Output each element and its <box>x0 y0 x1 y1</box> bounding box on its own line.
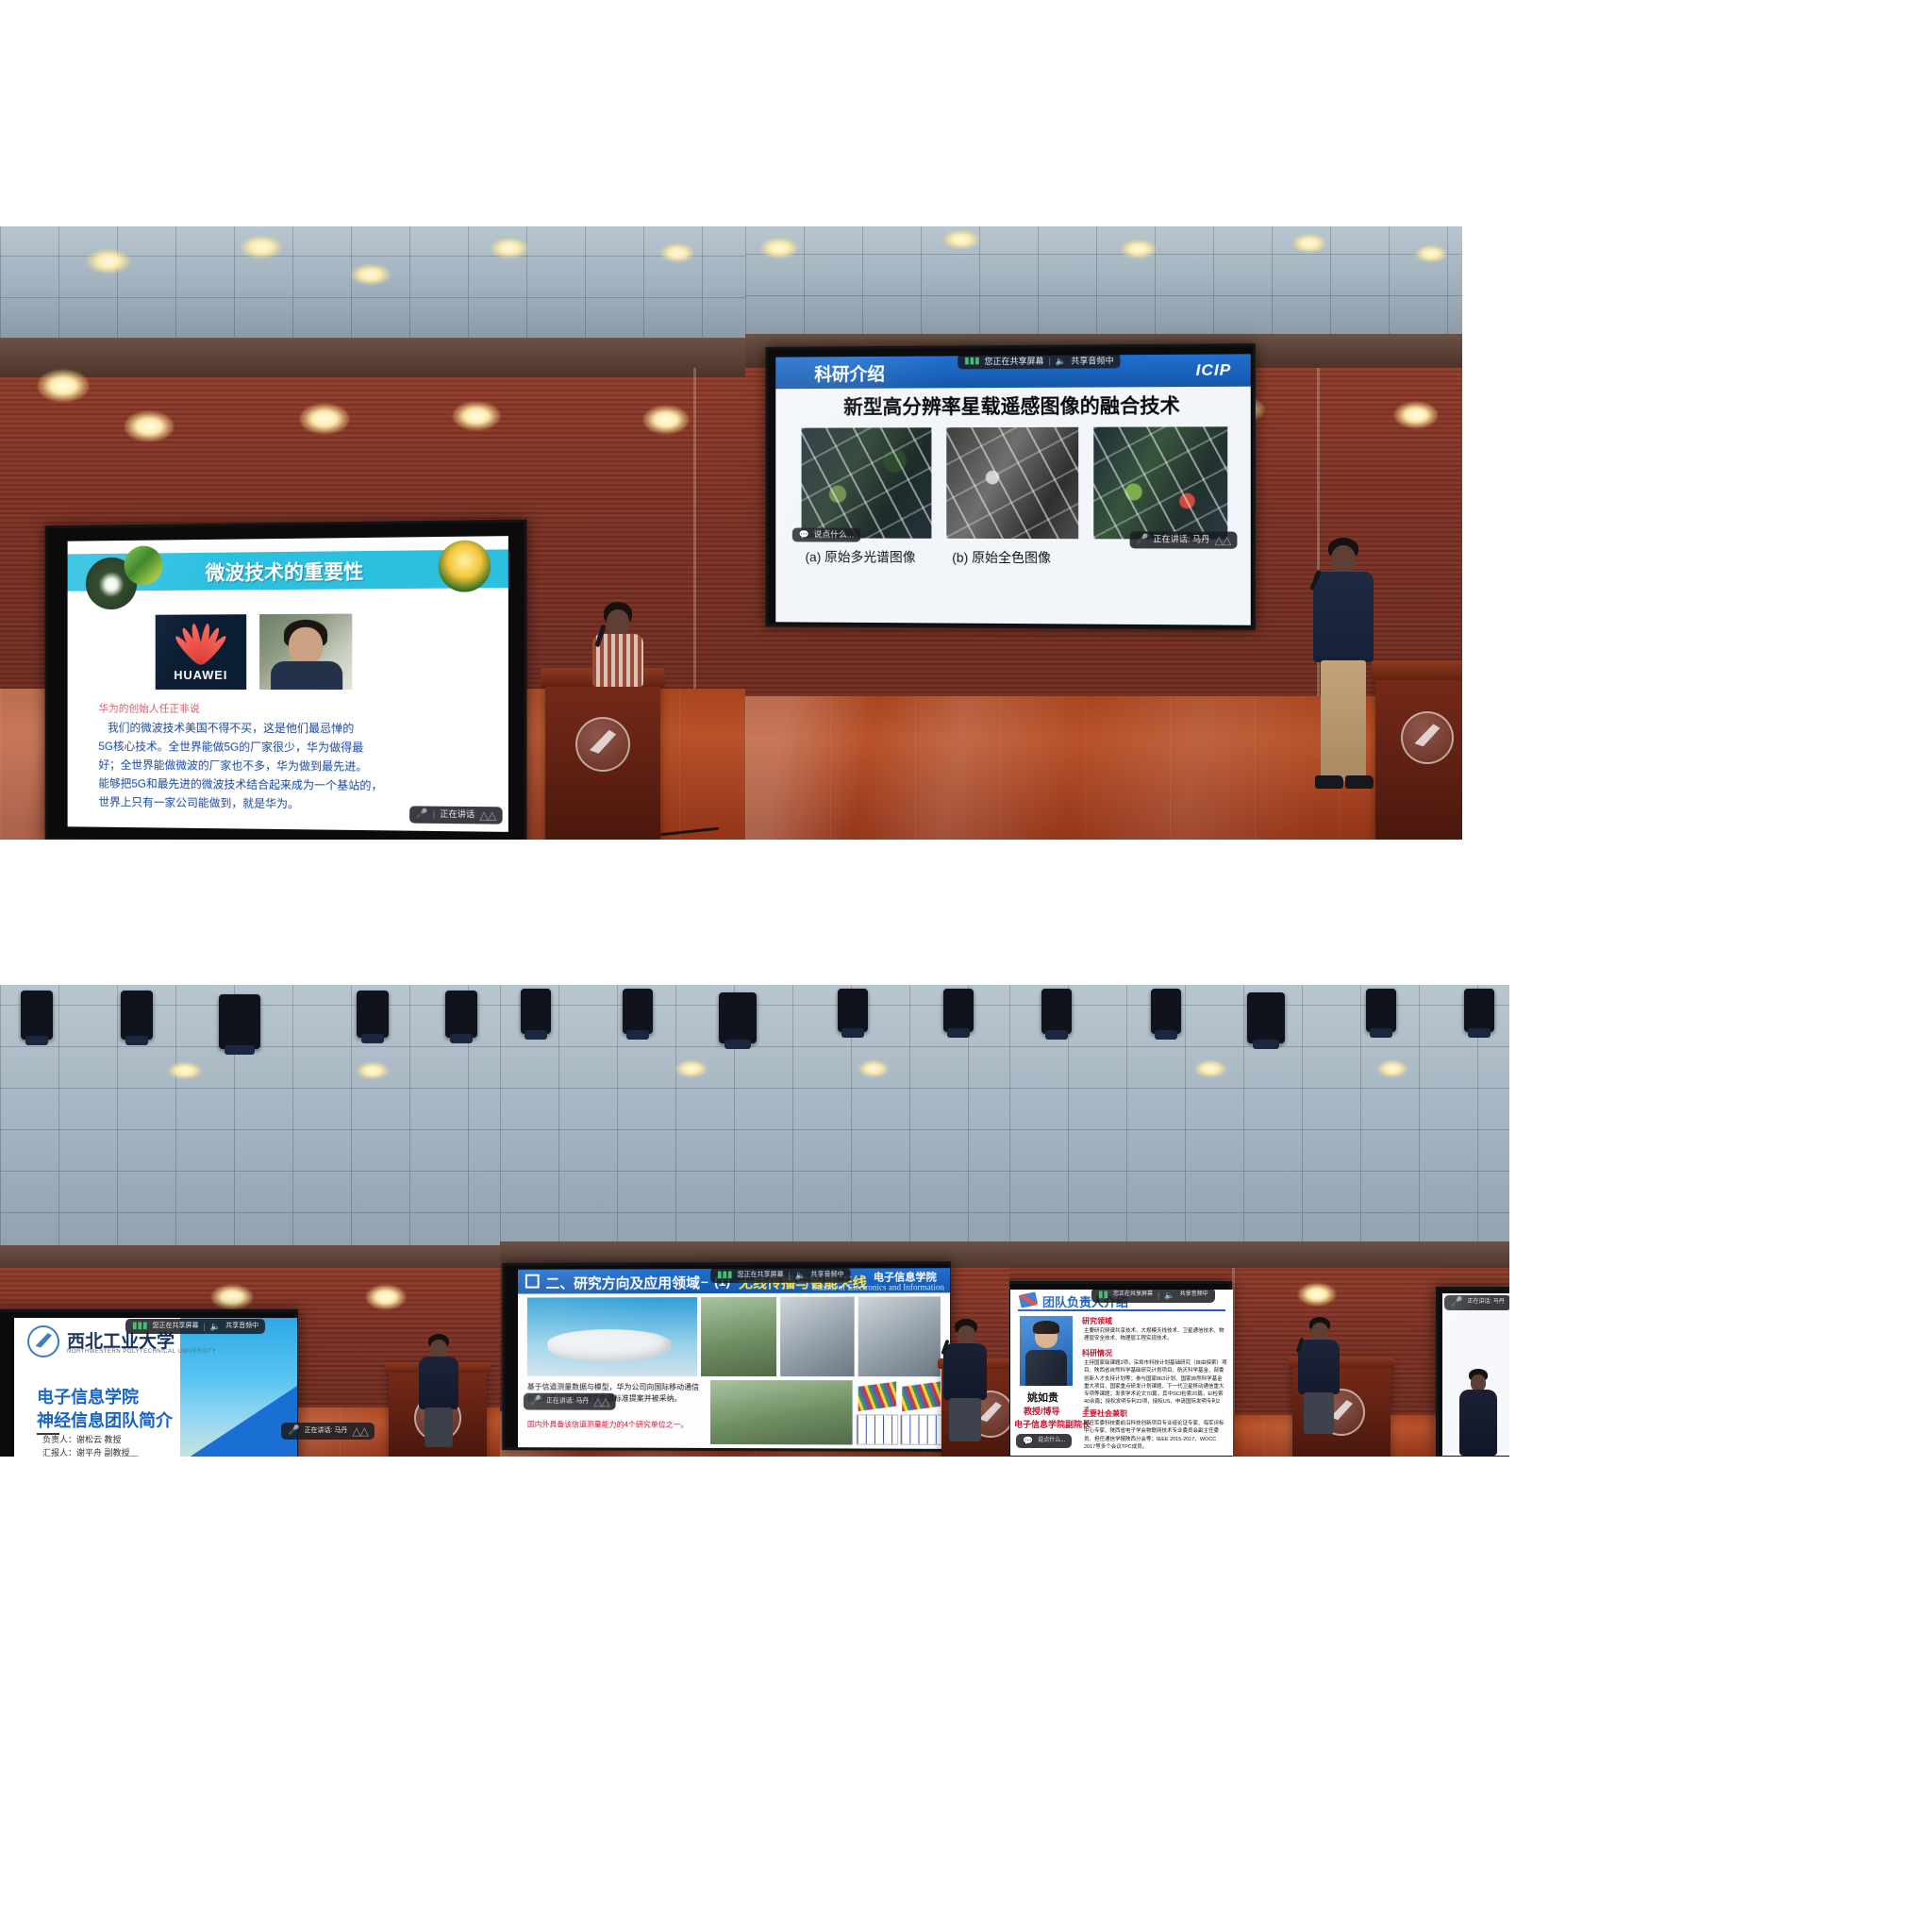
quote-line: 能够把5G和最先进的微波技术结合起来成为一个基站的， <box>98 775 382 793</box>
zoom-speaking-label: 正在讲话: 马丹 <box>1467 1299 1504 1306</box>
wall-wash-light <box>1394 402 1438 428</box>
figure-multispectral-image <box>802 427 932 539</box>
zoom-separator: | <box>204 1322 206 1332</box>
antenna-rig-photo <box>701 1297 776 1376</box>
huawei-logo-image: HUAWEI <box>156 614 246 690</box>
audio-wave-icon: △△ <box>479 808 495 823</box>
presentation-slide: 二、研究方向及应用领域 – (1) 无线传播与智能天线 电子信息学院 Schoo… <box>518 1268 950 1449</box>
presenter <box>413 1334 462 1447</box>
section-body: 担任军委科技委前沿科技创新项目专业组论证专家、海军评标中心专家、陕西省电子学会物… <box>1084 1420 1227 1451</box>
speaker-icon: 🔈 <box>1056 356 1066 366</box>
satellite-icon <box>1019 1291 1039 1307</box>
photo-collage: 微波技术的重要性 HUAWEI <box>0 0 1932 1932</box>
presenter <box>1292 1317 1345 1438</box>
zoom-speaking-indicator[interactable]: 🎤 正在讲话: 马丹 △△ <box>1130 531 1238 549</box>
led-screen-right: 🎤 正在讲话: 马丹 <box>1436 1287 1509 1457</box>
speaker-icon: 🔈 <box>210 1322 221 1332</box>
zoom-separator: | <box>789 1270 791 1280</box>
lab-equipment-photo <box>780 1297 855 1376</box>
microphone-icon: 🎤 <box>1451 1297 1462 1308</box>
panel-bottom-left: 西北工业大学 NORTHWESTERN POLYTECHNICAL UNIVER… <box>0 985 500 1457</box>
zoom-audio-label: 共享音频中 <box>1180 1291 1208 1298</box>
zoom-sharing-label: 您正在共享屏幕 <box>738 1272 784 1280</box>
microphone-icon: 🎤 <box>288 1425 299 1437</box>
presenter <box>938 1319 992 1441</box>
share-screen-icon: ▮▮▮ <box>717 1270 733 1281</box>
wall-wash-light <box>125 411 174 441</box>
section-body: 主持国家级课题2项，深圳市科技计划基础研究（自由探索）项目、陕西省自然科学基础研… <box>1084 1359 1227 1414</box>
led-screen: 二、研究方向及应用领域 – (1) 无线传播与智能天线 电子信息学院 Schoo… <box>502 1261 951 1452</box>
slide-header-right: ICIP <box>1196 361 1232 380</box>
field-measurement-photo <box>710 1380 853 1445</box>
zoom-speaking-label: 正在讲话: 马丹 <box>304 1427 347 1435</box>
microphone-icon: 🎤 <box>416 808 428 820</box>
nwpu-seal-icon <box>27 1325 59 1357</box>
zoom-sharing-indicator[interactable]: ▮▮▮ 您正在共享屏幕 | 🔈 共享音频中 <box>125 1319 265 1334</box>
podium <box>545 668 660 840</box>
radiation-pattern-plot <box>857 1380 899 1412</box>
presentation-slide-right: 🎤 正在讲话: 马丹 <box>1442 1293 1509 1456</box>
ceiling-spot <box>87 249 130 274</box>
zoom-speaking-label: 正在讲话 <box>440 809 475 820</box>
figure-panchromatic-image <box>946 427 1078 539</box>
quote-line: 好；全世界能做微波的厂家也不多，华为做到最先进。 <box>98 757 367 774</box>
ceiling-spot <box>660 243 694 262</box>
share-screen-icon: ▮▮▮ <box>964 356 979 367</box>
quote-line: 世界上只有一家公司能做到，就是华为。 <box>98 793 299 811</box>
podium <box>1375 660 1462 840</box>
ceiling-spot <box>357 1062 389 1079</box>
ceiling-spot <box>1377 1060 1407 1077</box>
section-body: 主要研究频谱共享技术、大规模天线技术、卫星通信技术、物理层安全技术、物理层工程实… <box>1084 1327 1227 1343</box>
ceiling <box>745 226 1462 338</box>
zoom-chat-placeholder: 说点什么... <box>814 530 855 541</box>
panel-bottom-right: 团队负责人介绍 姚如贵 教授/博导 电子信息学院副院长 研究领域 主要研究频谱共… <box>1009 985 1509 1457</box>
credit-presenter: 汇报人：谢平舟 副教授 <box>42 1446 130 1457</box>
stage-truss-light <box>521 989 551 1034</box>
chat-bubble-icon: 💬 <box>1023 1436 1033 1446</box>
stage-truss-light <box>121 991 153 1040</box>
share-screen-icon: ▮▮ <box>1098 1290 1108 1301</box>
university-name-en: NORTHWESTERN POLYTECHNICAL UNIVERSITY <box>67 1349 216 1355</box>
sunrise-photo-chip-icon <box>439 540 491 591</box>
quote-line: 我们的微波技术美国不得不买，这是他们最忌惮的 <box>108 719 354 736</box>
zoom-chat-placeholder: 说点什么... <box>1038 1438 1065 1444</box>
presentation-slide: 科研介绍 ICIP 新型高分辨率星载遥感图像的融合技术 (a) 原始多光谱图像 … <box>775 354 1251 625</box>
panel-top-left: 微波技术的重要性 HUAWEI <box>0 226 745 840</box>
stage-truss-light <box>357 991 389 1038</box>
founder-portrait-image <box>259 614 352 690</box>
school-name-en: School of Electronics and Information <box>812 1282 944 1291</box>
zoom-sharing-label: 您正在共享屏幕 <box>985 356 1044 366</box>
credit-leader: 负责人：谢松云 教授 <box>42 1433 122 1445</box>
ceiling-spot <box>760 238 798 258</box>
quote-heading: 华为的创始人任正非说 <box>98 701 199 716</box>
stage-truss-light <box>219 994 260 1049</box>
figure-caption-b: (b) 原始全色图像 <box>952 548 1051 567</box>
stage-truss-light <box>838 989 868 1032</box>
audio-wave-icon: △△ <box>1215 533 1231 547</box>
person-title-1: 教授/博导 <box>1024 1405 1060 1417</box>
panel-bottom-middle: 二、研究方向及应用领域 – (1) 无线传播与智能天线 电子信息学院 Schoo… <box>500 985 1009 1457</box>
led-screen: 西北工业大学 NORTHWESTERN POLYTECHNICAL UNIVER… <box>0 1309 298 1457</box>
ceiling-spot <box>943 230 979 249</box>
person-name: 姚如贵 <box>1027 1390 1058 1405</box>
section-heading: 研究领域 <box>1082 1316 1112 1326</box>
stage-truss-light <box>719 992 757 1043</box>
wall-wash-light <box>453 402 500 430</box>
zoom-sharing-indicator[interactable]: ▮▮ 您正在共享屏幕 | 🔈 共享音频中 <box>1091 1290 1215 1303</box>
radiation-pattern-plot <box>900 1380 942 1412</box>
wall-wash-light <box>643 406 689 434</box>
slide-title-line-2: 神经信息团队简介 <box>37 1407 173 1432</box>
header-rule <box>1018 1309 1225 1311</box>
presenter-remote <box>1457 1369 1499 1456</box>
microphone-icon: 🎤 <box>1137 534 1149 545</box>
microphone-icon: 🎤 <box>530 1395 541 1407</box>
stage-truss-light <box>21 991 53 1040</box>
zoom-sharing-indicator[interactable]: ▮▮▮ 您正在共享屏幕 | 🔈 共享音频中 <box>958 354 1120 369</box>
stage-truss-light <box>445 991 477 1038</box>
audio-wave-icon: △△ <box>352 1424 367 1438</box>
zoom-audio-label: 共享音频中 <box>225 1323 258 1330</box>
presentation-slide: 西北工业大学 NORTHWESTERN POLYTECHNICAL UNIVER… <box>14 1318 297 1457</box>
zoom-chat-button[interactable]: 💬 说点什么... <box>792 528 860 542</box>
ceiling-spot <box>858 1060 889 1077</box>
section-heading: 科研情况 <box>1082 1348 1112 1358</box>
lab-equipment-photo <box>858 1296 941 1376</box>
zoom-sharing-label: 您正在共享屏幕 <box>1113 1291 1153 1298</box>
wall-seam <box>693 368 696 717</box>
figure-caption-a: (a) 原始多光谱图像 <box>806 547 916 566</box>
zoom-separator: | <box>1049 356 1051 366</box>
stage-truss-light <box>1247 992 1285 1043</box>
speaker-icon: 🔈 <box>795 1270 806 1280</box>
wall-wash-light <box>366 1285 406 1309</box>
led-screen: 科研介绍 ICIP 新型高分辨率星载遥感图像的融合技术 (a) 原始多光谱图像 … <box>766 343 1256 630</box>
university-emblem-icon <box>575 717 630 772</box>
zoom-sharing-indicator[interactable]: ▮▮▮ 您正在共享屏幕 | 🔈 共享音频中 <box>710 1268 851 1283</box>
zoom-speaking-label: 正在讲话: 马丹 <box>546 1397 589 1405</box>
aerostat-photo <box>527 1297 697 1376</box>
zoom-speaking-indicator[interactable]: 🎤 正在讲话: 马丹 △△ <box>524 1392 615 1409</box>
zoom-audio-label: 共享音频中 <box>1071 356 1113 366</box>
led-screen: 微波技术的重要性 HUAWEI <box>45 520 527 840</box>
huawei-wordmark: HUAWEI <box>174 668 227 682</box>
ceiling-soffit <box>0 338 745 383</box>
zoom-speaking-label: 正在讲话: 马丹 <box>1153 535 1209 545</box>
ceiling-spot <box>241 236 282 258</box>
zoom-chat-button[interactable]: 💬 说点什么... <box>1016 1434 1072 1448</box>
stage-truss-light <box>1464 989 1494 1032</box>
zoom-speaking-indicator[interactable]: 🎤 | 正在讲话 △△ <box>409 806 503 824</box>
speaker-icon: 🔈 <box>1164 1291 1174 1301</box>
bullet-text: 国内外具备该信道测量能力的4个研究单位之一。 <box>527 1419 705 1431</box>
ceiling-spot <box>1121 240 1157 258</box>
led-screen: 团队负责人介绍 姚如贵 教授/博导 电子信息学院副院长 研究领域 主要研究频谱共… <box>1009 1281 1232 1457</box>
stage-truss-light <box>1366 989 1396 1032</box>
stage-truss-light <box>623 989 653 1034</box>
slide-title-prefix: 二、研究方向及应用领域 <box>546 1273 701 1292</box>
slide-header-left: 科研介绍 <box>814 360 885 386</box>
zoom-sharing-label: 您正在共享屏幕 <box>153 1323 199 1330</box>
ceiling-spot <box>1415 245 1447 262</box>
person-title-2: 电子信息学院副院长 <box>1014 1418 1091 1430</box>
stage-truss-light <box>1151 989 1181 1034</box>
wall-wash-light <box>300 404 349 434</box>
slide-title-line-1: 电子信息学院 <box>37 1384 139 1408</box>
slide-title: 新型高分辨率星载遥感图像的融合技术 <box>775 391 1251 421</box>
presentation-slide: 团队负责人介绍 姚如贵 教授/博导 电子信息学院副院长 研究领域 主要研究频谱共… <box>1010 1290 1233 1456</box>
ceiling-spot <box>1292 234 1326 253</box>
wall-wash-light <box>1298 1283 1336 1306</box>
zoom-speaking-indicator[interactable]: 🎤 正在讲话: 马丹 △△ <box>281 1423 375 1440</box>
spectrum-plot <box>900 1414 942 1444</box>
leaf-photo-chip-icon <box>125 545 163 585</box>
slide-title-dash: – <box>701 1274 708 1289</box>
slide-icon <box>525 1274 540 1289</box>
ceiling-spot <box>675 1060 708 1077</box>
stage-truss-light <box>1041 989 1072 1034</box>
section-heading: 主要社会兼职 <box>1082 1408 1127 1419</box>
airship-shape <box>547 1329 671 1361</box>
audio-wave-icon: △△ <box>593 1394 608 1407</box>
quote-line: 5G核心技术。全世界能做5G的厂家很少，华为做得最 <box>98 738 363 755</box>
zoom-audio-label: 共享音频中 <box>810 1271 843 1279</box>
stage-truss-light <box>943 989 974 1032</box>
figure-fused-image <box>1093 426 1227 539</box>
ceiling-spot <box>351 264 391 285</box>
ceiling-spot <box>1194 1060 1226 1077</box>
portrait-frame <box>1020 1316 1073 1386</box>
zoom-separator: | <box>1158 1291 1159 1301</box>
presentation-slide: 微波技术的重要性 HUAWEI <box>68 536 508 832</box>
panel-top-right: 科研介绍 ICIP 新型高分辨率星载遥感图像的融合技术 (a) 原始多光谱图像 … <box>745 226 1462 840</box>
ceiling-spot <box>491 238 528 258</box>
wall-wash-light <box>38 370 89 402</box>
share-screen-icon: ▮▮▮ <box>132 1321 148 1332</box>
spectrum-plot <box>857 1414 899 1444</box>
podium-top <box>1372 660 1462 680</box>
university-emblem-icon <box>1401 711 1454 764</box>
wall-wash-light <box>211 1285 253 1309</box>
chat-bubble-icon: 💬 <box>799 530 809 541</box>
zoom-speaking-indicator[interactable]: 🎤 正在讲话: 马丹 <box>1444 1295 1509 1310</box>
ceiling-spot <box>168 1062 202 1079</box>
